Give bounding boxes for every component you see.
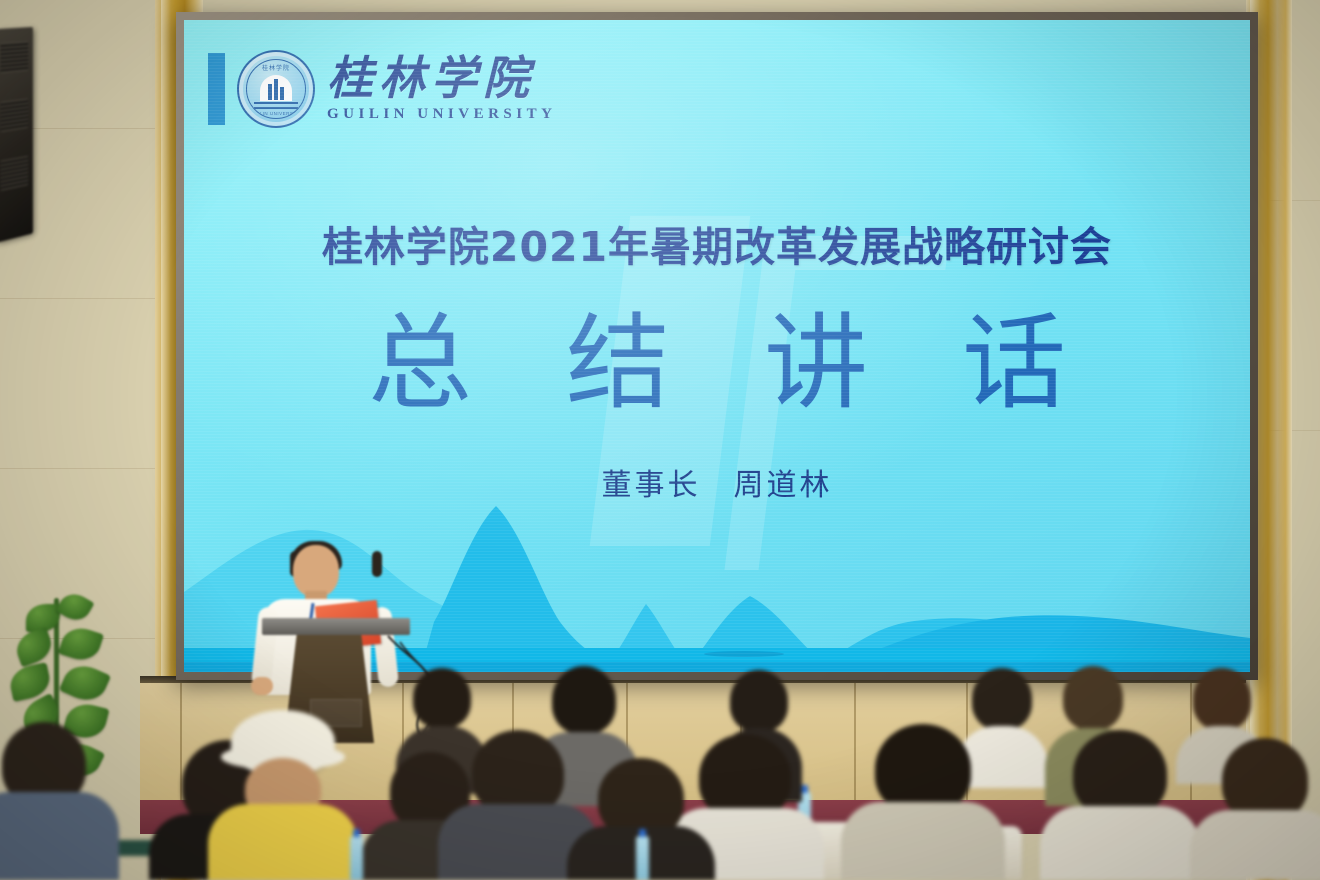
water-bottle — [350, 836, 363, 880]
audience-person — [1050, 730, 1190, 880]
emblem-top-text: 桂林学院 — [247, 63, 305, 72]
audience-person — [1200, 738, 1320, 880]
logo-accent-bar — [208, 53, 225, 125]
loudspeaker-icon — [0, 27, 33, 243]
conference-hall-photo: 安全出口 桂林学院 — [0, 0, 1320, 880]
university-emblem-icon: 桂林学院 GUILIN UNIVERSITY — [237, 50, 315, 128]
presenter-head — [293, 545, 339, 597]
water-bottle — [636, 836, 649, 880]
audience-person — [852, 724, 994, 880]
university-logo: 桂林学院 GUILIN UNIVERSITY 桂林学院 GUILIN UNIVE… — [208, 50, 556, 128]
logo-name-en: GUILIN UNIVERSITY — [327, 106, 556, 123]
emblem-bottom-text: GUILIN UNIVERSITY — [247, 111, 305, 116]
audience-person — [0, 722, 108, 880]
audience-person-with-cap — [218, 710, 348, 880]
logo-name-cn: 桂林学院 — [327, 56, 556, 102]
slide-title: 桂林学院2021年暑期改革发展战略研讨会 — [184, 213, 1250, 273]
audience-seating — [0, 670, 1320, 880]
slide-main-heading: 总 结 讲 话 — [184, 308, 1250, 422]
